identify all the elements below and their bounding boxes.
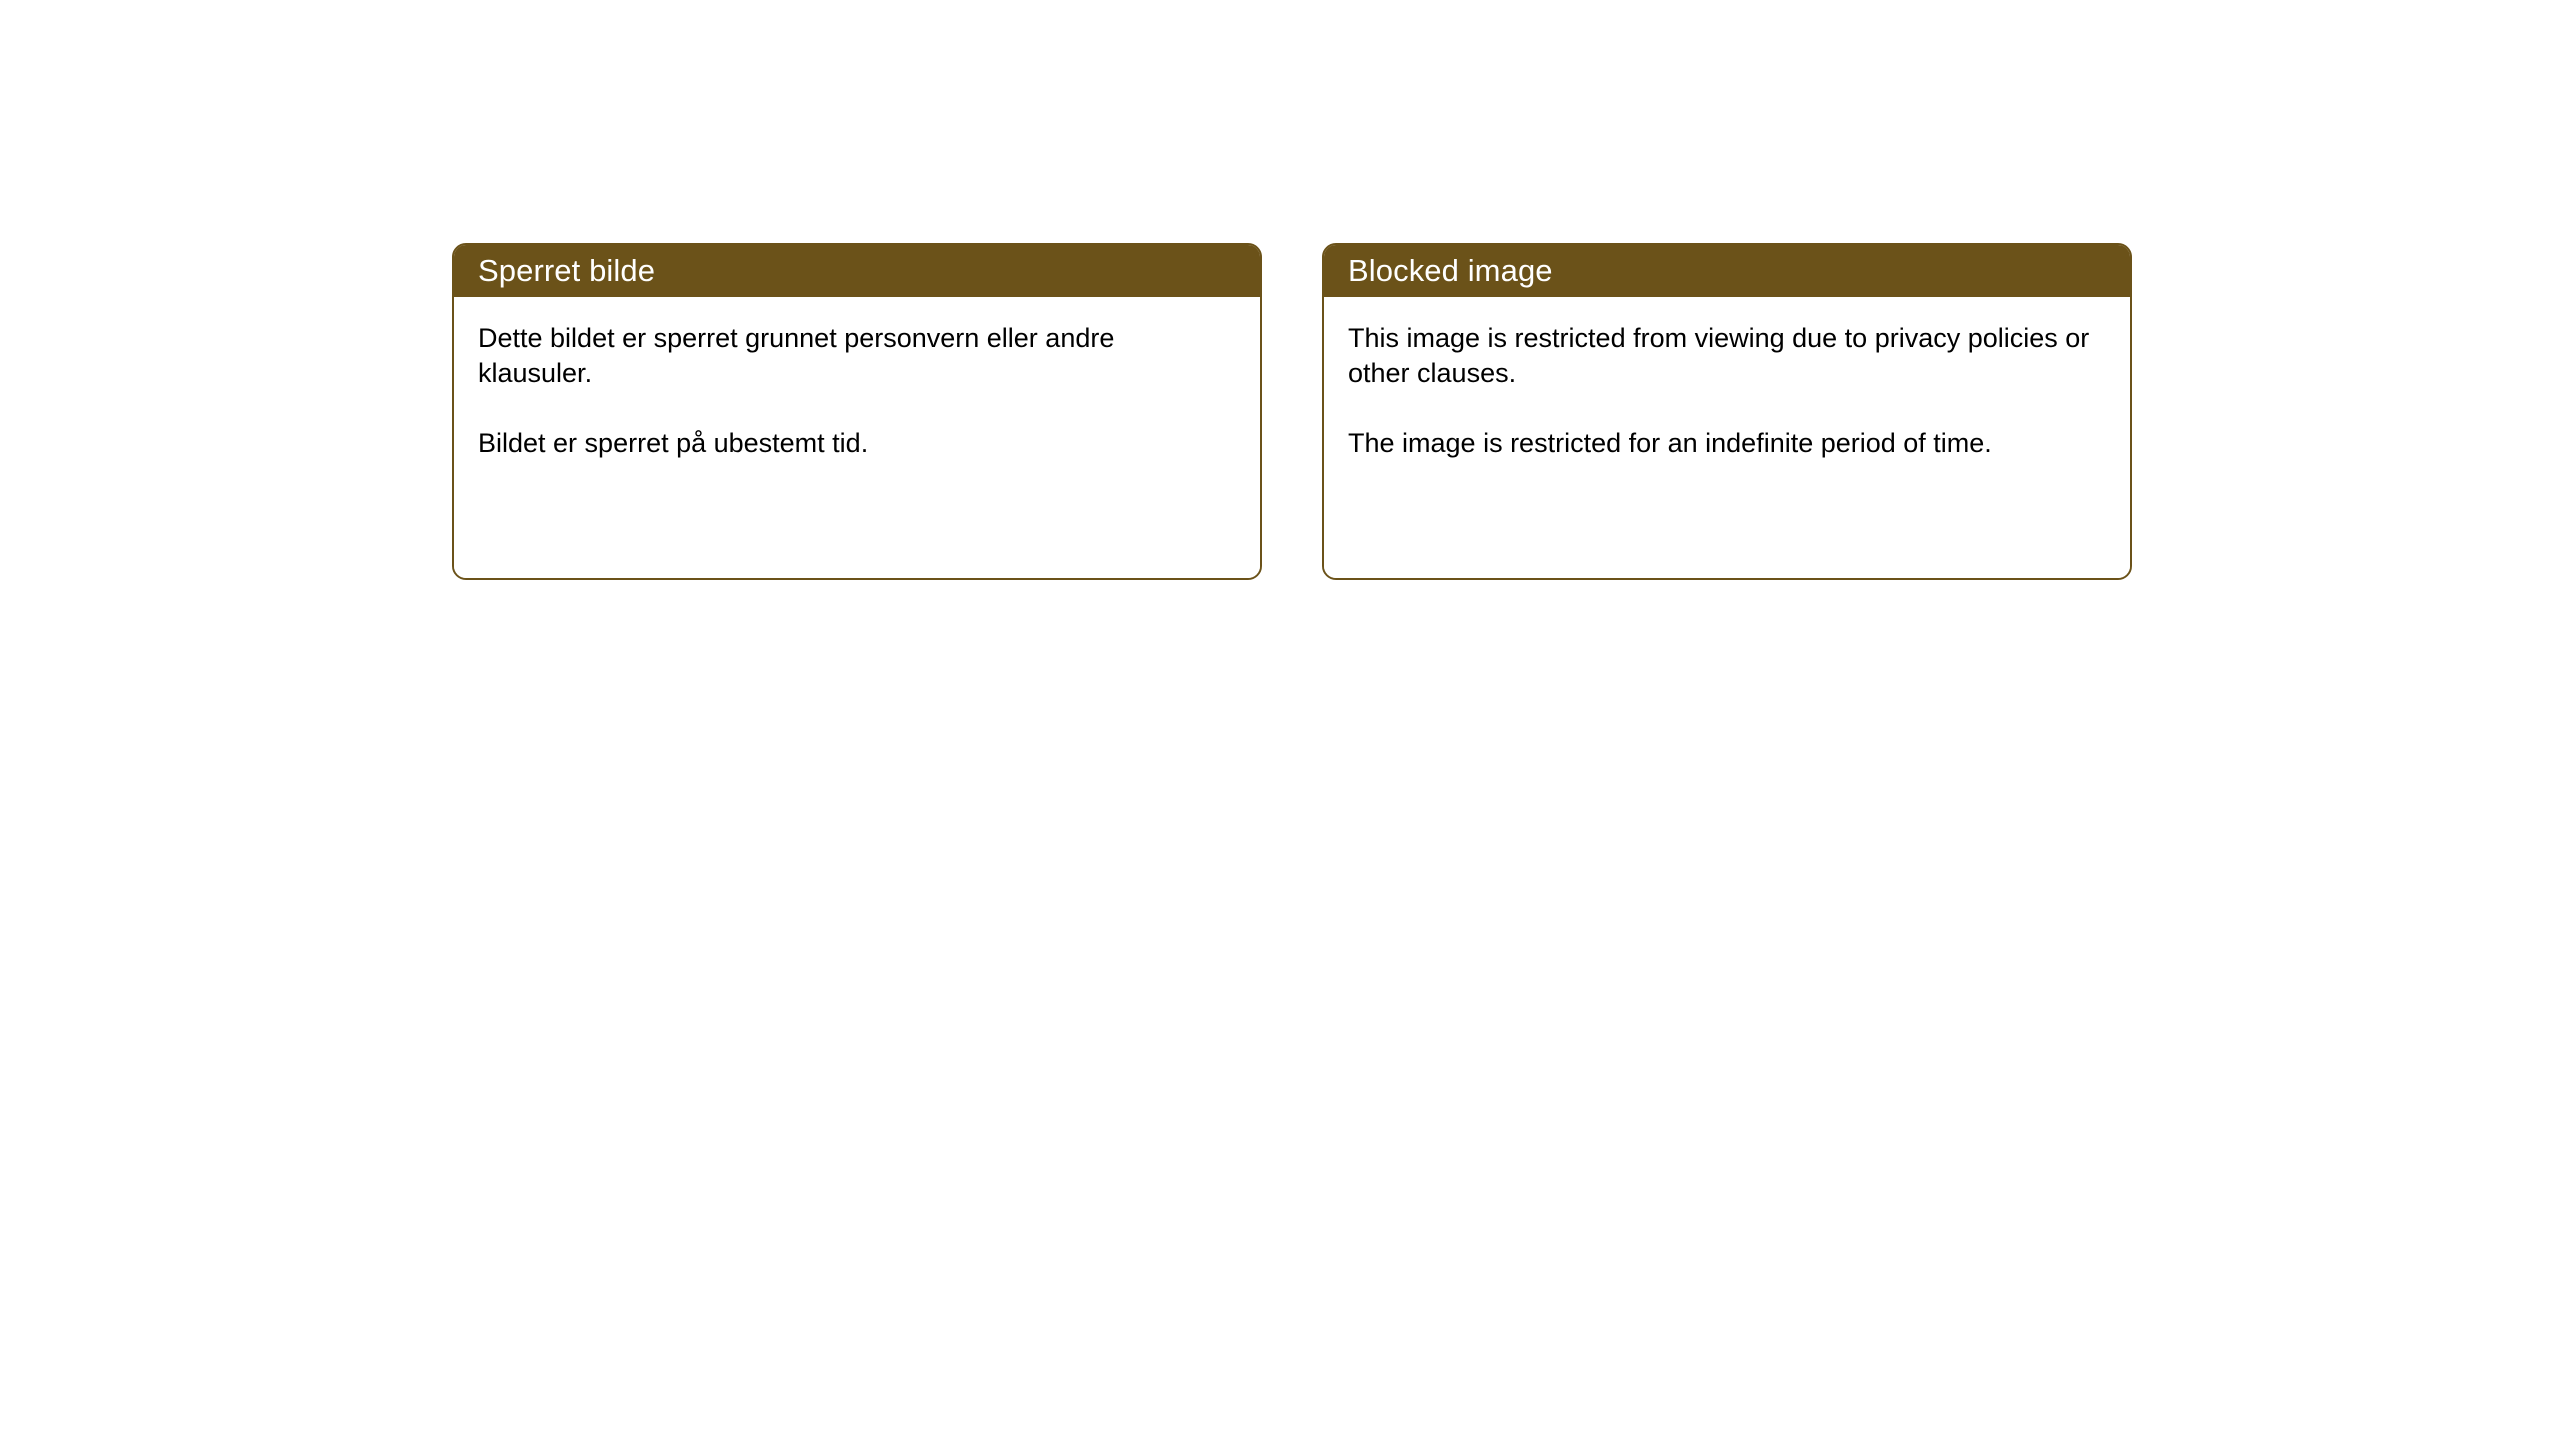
panel-body-english: This image is restricted from viewing du… (1324, 297, 2130, 578)
paragraph-spacer (1348, 391, 2104, 426)
blocked-image-notice-group: Sperret bilde Dette bildet er sperret gr… (452, 243, 2132, 580)
panel-body-norwegian: Dette bildet er sperret grunnet personve… (454, 297, 1260, 578)
notice-paragraph-secondary-english: The image is restricted for an indefinit… (1348, 426, 2104, 461)
panel-title-norwegian: Sperret bilde (478, 254, 655, 288)
page-root: Sperret bilde Dette bildet er sperret gr… (0, 0, 2560, 1440)
blocked-image-notice-english: Blocked image This image is restricted f… (1322, 243, 2132, 580)
notice-paragraph-primary-english: This image is restricted from viewing du… (1348, 321, 2104, 391)
paragraph-spacer (478, 391, 1234, 426)
panel-title-english: Blocked image (1348, 254, 1553, 288)
panel-header-norwegian: Sperret bilde (454, 245, 1260, 297)
blocked-image-notice-norwegian: Sperret bilde Dette bildet er sperret gr… (452, 243, 1262, 580)
notice-paragraph-primary-norwegian: Dette bildet er sperret grunnet personve… (478, 321, 1234, 391)
notice-paragraph-secondary-norwegian: Bildet er sperret på ubestemt tid. (478, 426, 1234, 461)
panel-header-english: Blocked image (1324, 245, 2130, 297)
